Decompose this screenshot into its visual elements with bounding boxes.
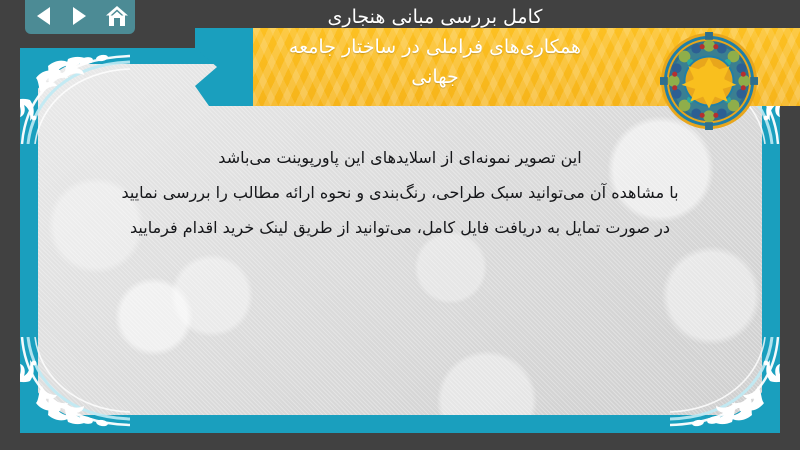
islamic-medallion-ornament bbox=[660, 32, 758, 130]
home-icon bbox=[105, 5, 129, 27]
body-line-1: این تصویر نمونه‌ای از اسلایدهای این پاور… bbox=[78, 140, 722, 175]
body-line-2: با مشاهده آن می‌توانید سبک طراحی، رنگ‌بن… bbox=[78, 175, 722, 210]
slide-body-text: این تصویر نمونه‌ای از اسلایدهای این پاور… bbox=[78, 140, 722, 245]
forward-button[interactable] bbox=[67, 3, 93, 29]
triangle-left-icon bbox=[37, 7, 50, 25]
triangle-right-icon bbox=[73, 7, 86, 25]
presentation-viewer: این تصویر نمونه‌ای از اسلایدهای این پاور… bbox=[0, 0, 800, 450]
back-button[interactable] bbox=[30, 3, 56, 29]
body-line-3: در صورت تمایل به دریافت فایل کامل، می‌تو… bbox=[78, 210, 722, 245]
navigation-bar bbox=[25, 0, 135, 34]
home-button[interactable] bbox=[104, 3, 130, 29]
